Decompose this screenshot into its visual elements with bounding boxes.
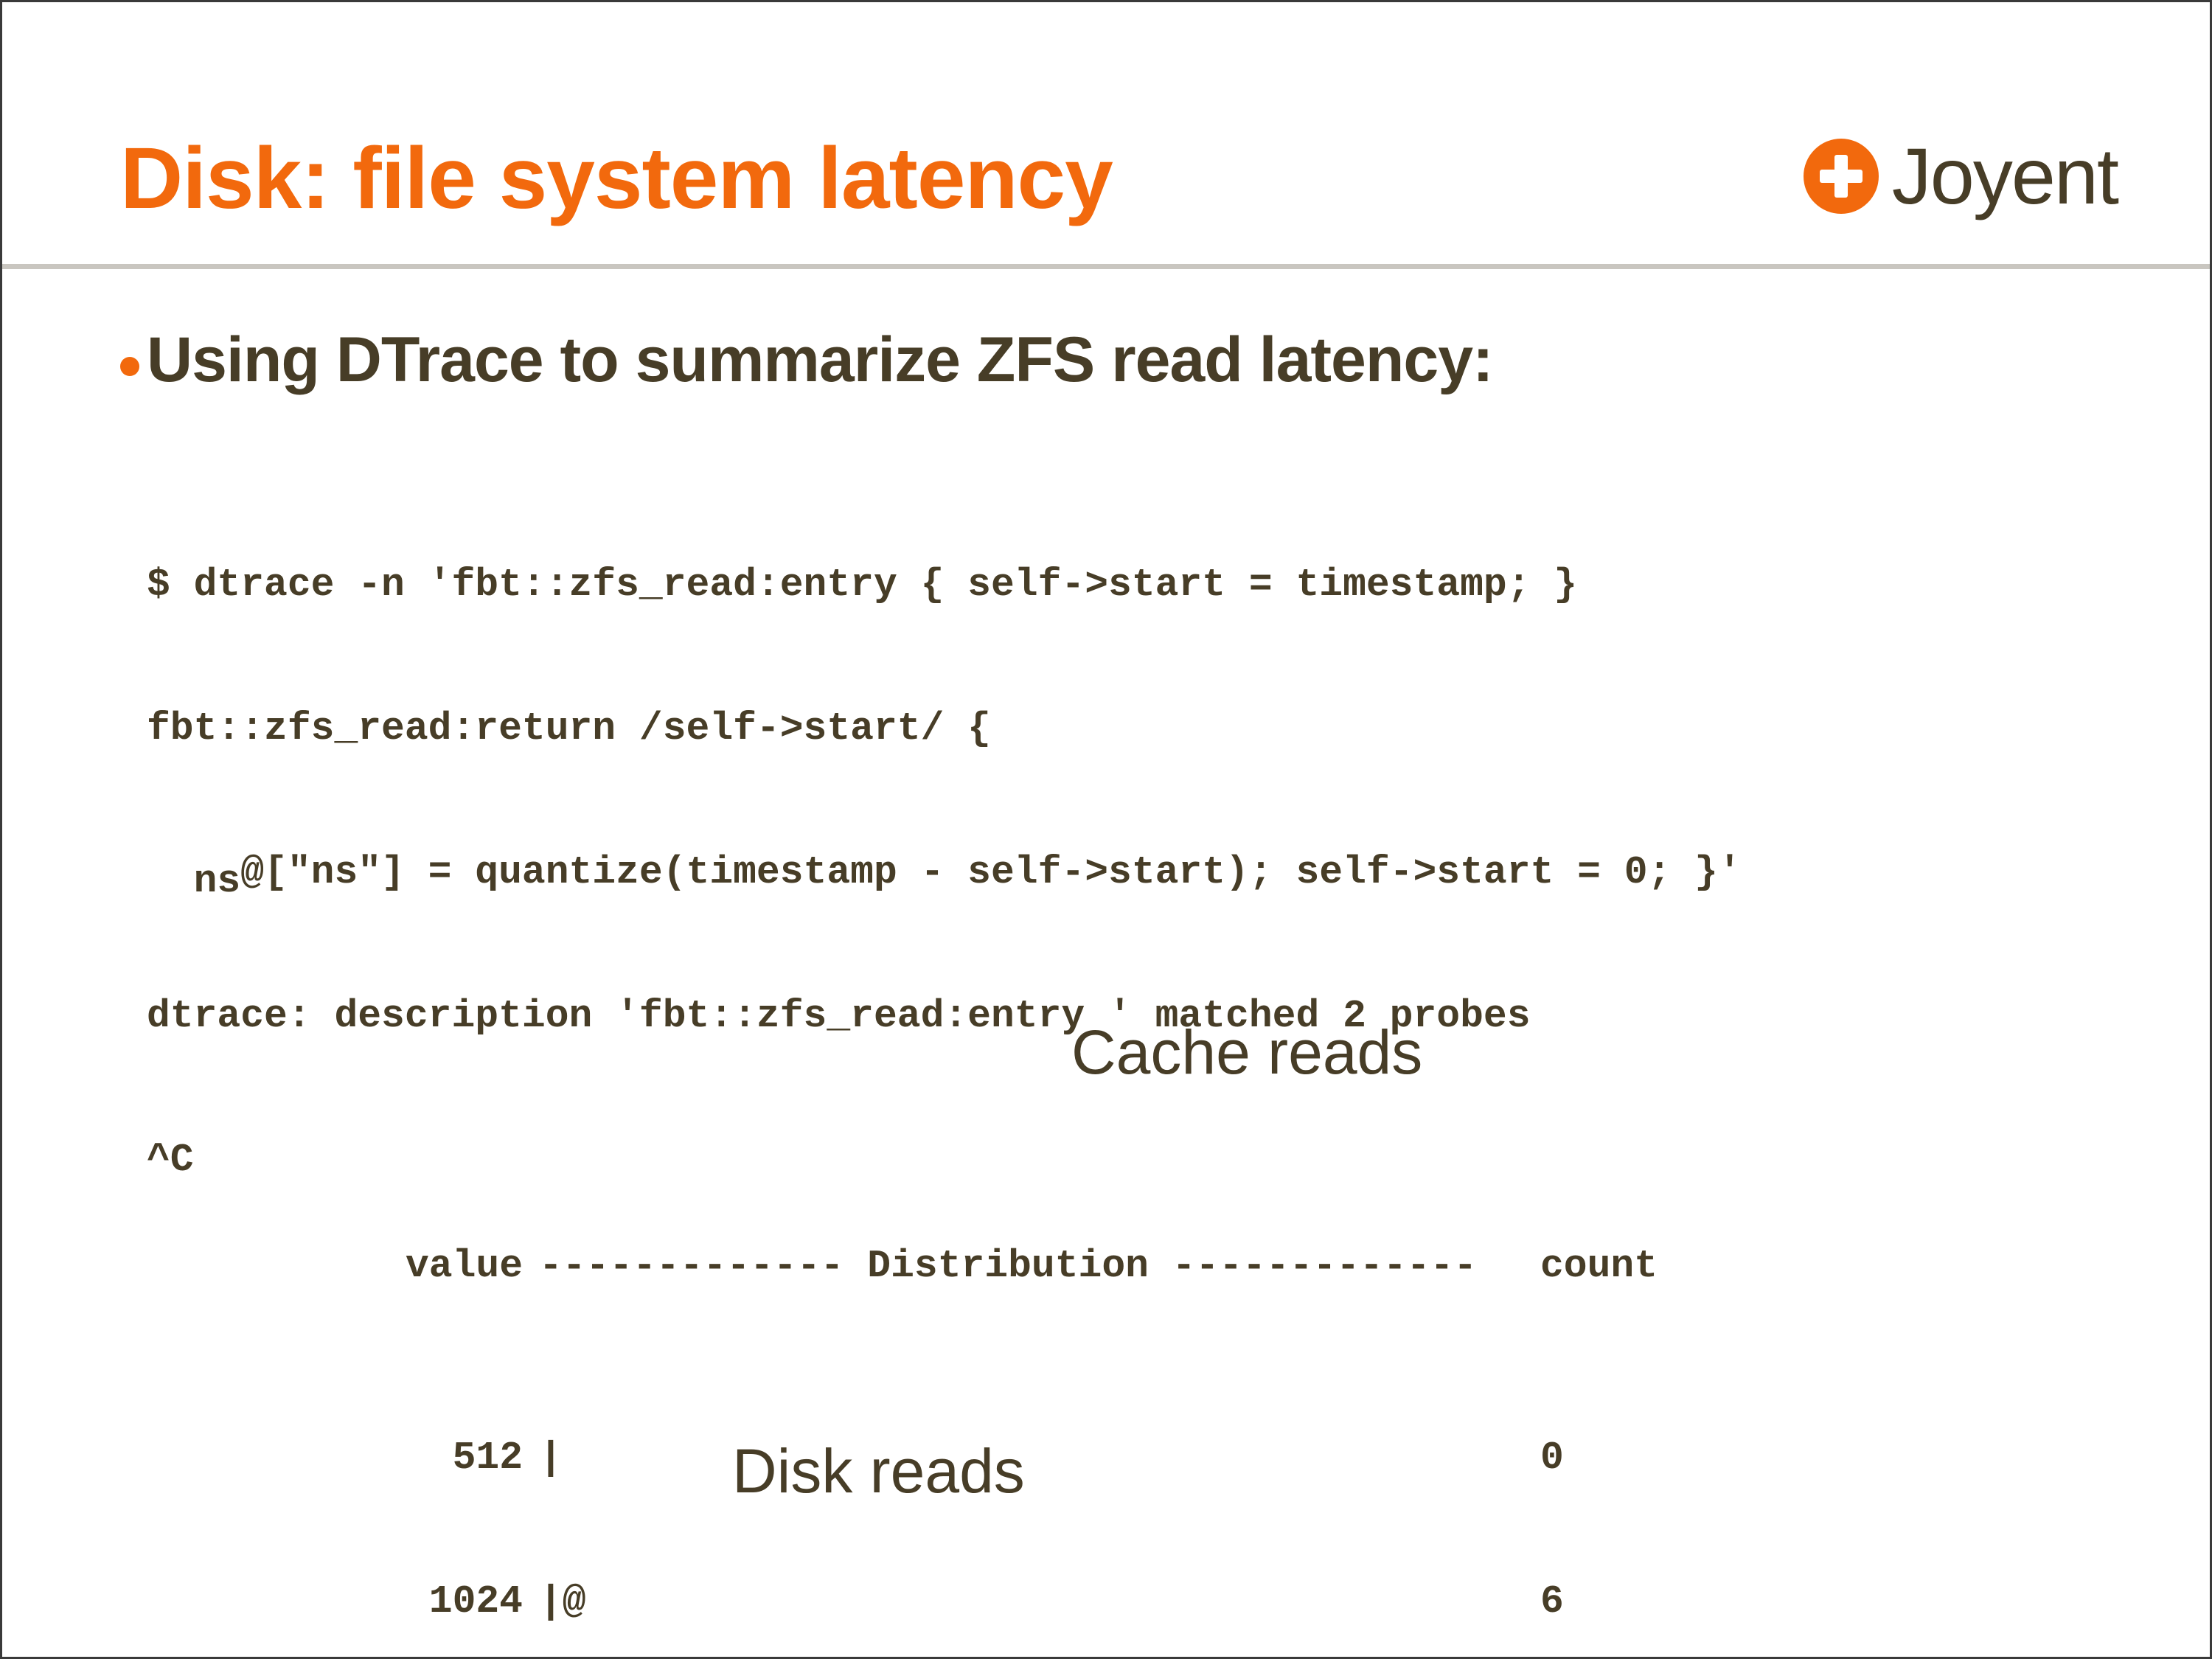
- row-count: 6: [1540, 1578, 1564, 1626]
- terminal-line: $ dtrace -n 'fbt::zfs_read:entry { self-…: [147, 561, 1742, 609]
- bullet-heading: Using DTrace to summarize ZFS read laten…: [120, 328, 1493, 392]
- column-header-count: count: [1540, 1242, 1658, 1290]
- slide-header: Disk: file system latency Joyent: [2, 2, 2210, 268]
- page-title: Disk: file system latency: [120, 135, 1113, 222]
- plus-vertical-bar: [1834, 155, 1848, 198]
- brand-name: Joyent: [1892, 136, 2118, 216]
- row-count: 0: [1540, 1434, 1564, 1482]
- histogram-table: value ------------- Distribution -------…: [147, 1147, 1658, 1659]
- row-bar: |: [523, 1434, 1540, 1482]
- bullet-heading-label: Using DTrace to summarize ZFS read laten…: [147, 328, 1493, 392]
- column-header-value: value: [147, 1242, 523, 1290]
- bullet-dot-icon: [120, 357, 139, 376]
- joyent-logo: Joyent: [1804, 136, 2118, 216]
- annotation-cache-reads: Cache reads: [1071, 1021, 1422, 1083]
- annotation-disk-reads: Disk reads: [732, 1440, 1025, 1502]
- histogram-unit-label: ns: [147, 858, 1658, 905]
- histogram-header-row: value ------------- Distribution -------…: [147, 1242, 1658, 1290]
- table-row: 1024 |@ 6: [147, 1578, 1658, 1626]
- row-value: 1024: [147, 1578, 523, 1626]
- row-bar: |@: [523, 1578, 1540, 1626]
- header-divider: [2, 264, 2210, 269]
- latency-histogram: ns value ------------- Distribution ----…: [147, 762, 1658, 1659]
- column-header-distribution: ------------- Distribution -------------: [523, 1242, 1540, 1290]
- terminal-line: fbt::zfs_read:return /self->start/ {: [147, 705, 1742, 753]
- plus-circle-icon: [1804, 139, 1879, 214]
- row-value: 512: [147, 1434, 523, 1482]
- slide: Disk: file system latency Joyent Using D…: [0, 0, 2212, 1659]
